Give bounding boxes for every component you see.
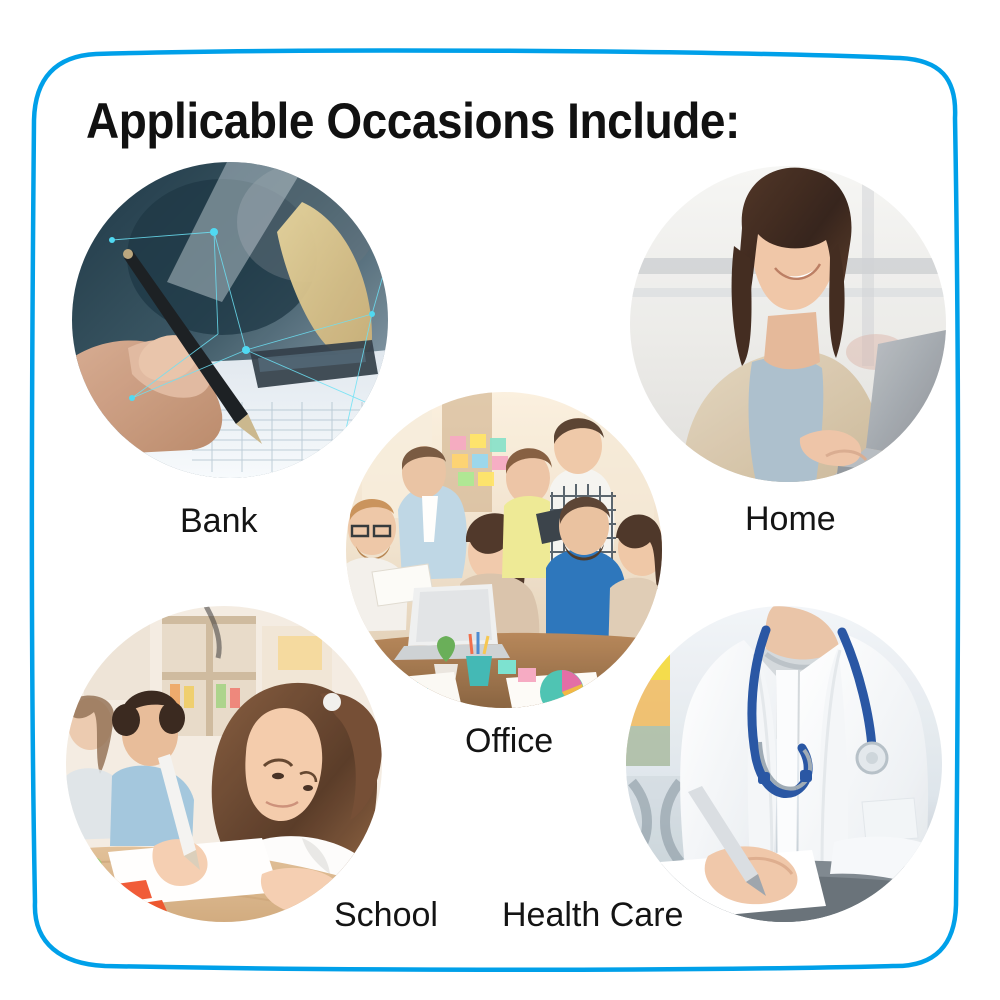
school-photo [66,606,382,922]
label-office: Office [465,722,553,761]
bank-photo [72,162,388,478]
health-care-photo [626,606,942,922]
office-photo [346,392,662,708]
label-school: School [334,896,438,935]
page-title: Applicable Occasions Include: [86,92,740,150]
label-health-care: Health Care [502,896,683,935]
label-home: Home [745,500,836,539]
promo-banner: Applicable Occasions Include: [0,0,1000,1000]
label-bank: Bank [180,502,258,541]
home-photo [630,166,946,482]
